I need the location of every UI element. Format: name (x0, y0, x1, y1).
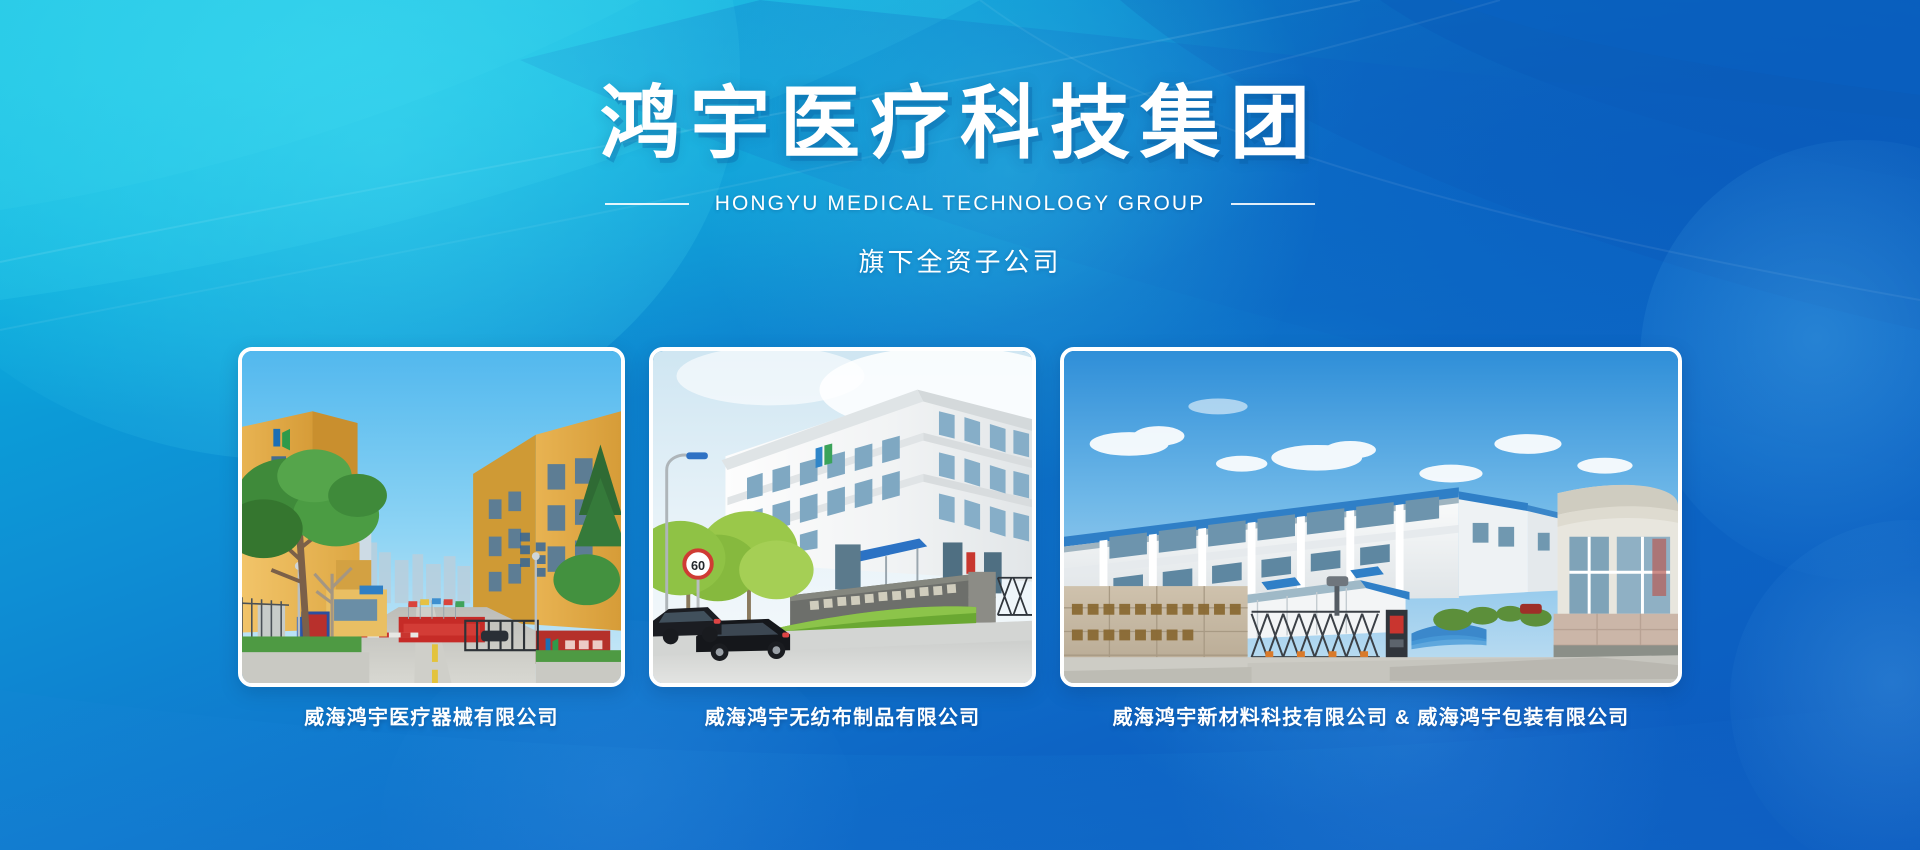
subsidiary-card-3[interactable] (1060, 347, 1682, 687)
headline-block: 鸿宇医疗科技集团 HONGYU MEDICAL TECHNOLOGY GROUP… (0, 84, 1920, 279)
subsidiary-caption-3: 威海鸿宇新材料科技有限公司 & 威海鸿宇包装有限公司 (1060, 698, 1682, 738)
subsidiary-caption-1: 威海鸿宇医疗器械有限公司 (238, 698, 625, 738)
photo-nonwoven-factory: 60 (653, 351, 1032, 683)
photo-new-materials-and-packaging-plant (1064, 351, 1678, 683)
subsidiary-caption-2: 威海鸿宇无纺布制品有限公司 (649, 698, 1036, 738)
page-subtitle-english: HONGYU MEDICAL TECHNOLOGY GROUP (715, 192, 1206, 216)
rule-left-decoration (605, 203, 689, 205)
rule-right-decoration (1231, 203, 1315, 205)
subsidiary-card-row: 60 (238, 347, 1682, 687)
subsidiary-card-1[interactable] (238, 347, 625, 687)
subsidiary-caption-row: 威海鸿宇医疗器械有限公司 威海鸿宇无纺布制品有限公司 威海鸿宇新材料科技有限公司… (238, 698, 1682, 738)
page-tagline: 旗下全资子公司 (0, 242, 1920, 279)
company-group-banner: 鸿宇医疗科技集团 HONGYU MEDICAL TECHNOLOGY GROUP… (0, 0, 1920, 850)
glow-blob-bottom-right (1730, 520, 1920, 850)
page-title: 鸿宇医疗科技集团 (0, 84, 1920, 164)
photo-medical-devices-campus (242, 351, 621, 683)
subsidiary-card-2[interactable]: 60 (649, 347, 1036, 687)
svg-text:60: 60 (691, 558, 705, 573)
subtitle-row: HONGYU MEDICAL TECHNOLOGY GROUP (0, 192, 1920, 216)
